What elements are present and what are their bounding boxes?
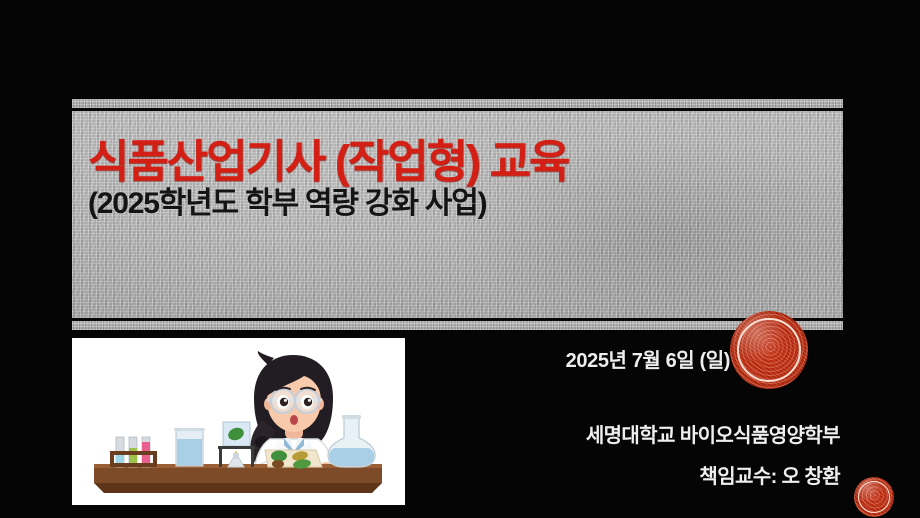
red-stamp-circle-small-icon bbox=[854, 477, 894, 517]
professor-name: 책임교수: 오 창환 bbox=[420, 460, 840, 489]
title-block: 식품산업기사 (작업형) 교육 (2025학년도 학부 역량 강화 사업) bbox=[88, 138, 828, 220]
beaker bbox=[174, 428, 205, 466]
page-subtitle: (2025학년도 학부 역량 강화 사업) bbox=[88, 187, 828, 220]
title-slide: 식품산업기사 (작업형) 교육 (2025학년도 학부 역량 강화 사업) 20… bbox=[0, 0, 920, 518]
page-title: 식품산업기사 (작업형) 교육 bbox=[88, 138, 828, 185]
presentation-info-block: 2025년 7월 6일 (일) 세명대학교 바이오식품영양학부 책임교수: 오 … bbox=[420, 344, 840, 489]
gray-banner-bar-top bbox=[72, 99, 843, 108]
test-tube-rack bbox=[110, 437, 157, 467]
leaf-sample-tray bbox=[265, 450, 322, 470]
illustration-svg bbox=[72, 338, 405, 505]
department-name: 세명대학교 바이오식품영양학부 bbox=[420, 419, 840, 448]
lab-scientist-girl-illustration bbox=[72, 338, 405, 505]
presentation-date: 2025년 7월 6일 (일) bbox=[420, 344, 840, 373]
stamp-ring-small bbox=[858, 481, 890, 513]
lab-bench bbox=[94, 464, 382, 493]
gray-banner-bar-bottom bbox=[72, 321, 843, 330]
